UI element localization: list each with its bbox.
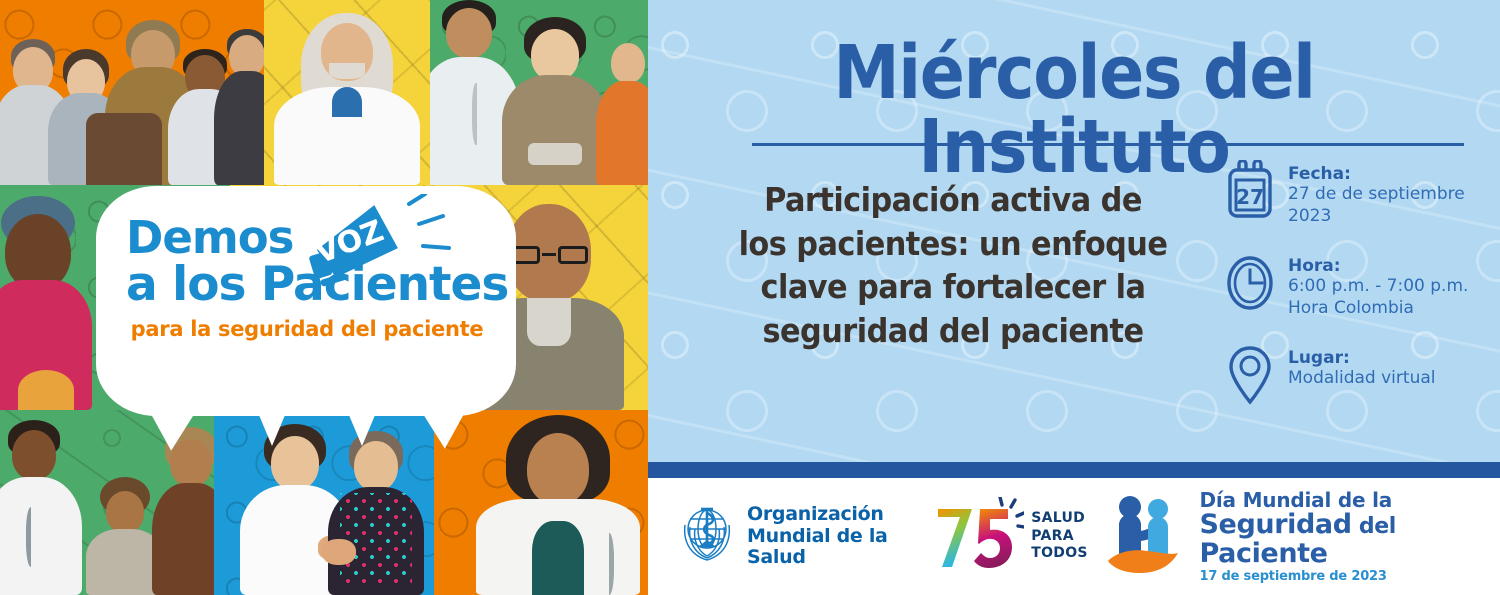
doctor-with-patient-photo <box>430 0 648 185</box>
who-emblem-icon <box>676 503 738 570</box>
event-info-panel: Miércoles del Instituto Participación ac… <box>648 0 1500 462</box>
group-discussion-photo <box>0 0 264 185</box>
slogan-line-1: Demos <box>126 216 488 259</box>
detail-date-value-2: 2023 <box>1288 206 1496 227</box>
who-logo: Organización Mundial de la Salud <box>676 503 910 570</box>
psd-line-2-light: del <box>1352 514 1396 539</box>
footer-divider <box>648 462 1500 478</box>
detail-location-label: Lugar: <box>1288 348 1496 368</box>
poster-banner: VOZ Demos a los Pacientes para la seguri… <box>0 0 1500 595</box>
psd-line-1: Día Mundial de la <box>1199 489 1466 511</box>
detail-time-label: Hora: <box>1288 256 1496 276</box>
psd-line-2: Seguridad del Paciente <box>1199 511 1466 568</box>
event-subtitle: Participación activa de los pacientes: u… <box>737 178 1169 352</box>
detail-time-value-1: 6:00 p.m. - 7:00 p.m. <box>1288 276 1496 297</box>
slogan-line-2: a los Pacientes <box>126 261 488 309</box>
collage-row-3 <box>0 410 648 595</box>
detail-date-label: Fecha: <box>1288 164 1496 184</box>
calendar-day-number: 27 <box>1236 185 1264 209</box>
hijab-doctor-photo <box>264 0 430 185</box>
detail-time: Hora: 6:00 p.m. - 7:00 p.m. Hora Colombi… <box>1226 252 1496 330</box>
detail-location: Lugar: Modalidad virtual <box>1226 344 1496 422</box>
slogan-line-3: para la seguridad del paciente <box>126 317 488 341</box>
event-details-list: 27 Fecha: 27 de de septiembre 2023 <box>1226 160 1496 436</box>
75-anniversary-icon <box>932 497 1024 576</box>
title-divider <box>752 143 1464 146</box>
who-line-2: Mundial de la Salud <box>747 526 910 569</box>
collage-row-1 <box>0 0 648 185</box>
psd-line-3: 17 de septiembre de 2023 <box>1199 569 1466 584</box>
clock-icon <box>1226 252 1274 314</box>
slogan-speech-bubble: VOZ Demos a los Pacientes para la seguri… <box>96 186 516 416</box>
psd-line-2-bold2: Paciente <box>1199 538 1327 569</box>
nurse-with-elderly-photo <box>214 410 434 595</box>
footer-logos: Organización Mundial de la Salud <box>648 478 1500 595</box>
calendar-icon: 27 <box>1226 160 1274 222</box>
psd-line-2-bold: Seguridad <box>1199 509 1351 540</box>
anniversary-line-2: PARA TODOS <box>1031 528 1104 563</box>
anniversary-line-1: SALUD <box>1031 510 1104 528</box>
location-pin-icon <box>1226 344 1274 406</box>
two-people-helping-hand-icon <box>1104 491 1190 582</box>
patient-safety-day-logo: Día Mundial de la Seguridad del Paciente… <box>1104 489 1466 584</box>
detail-location-value-1: Modalidad virtual <box>1288 368 1496 389</box>
detail-time-value-2: Hora Colombia <box>1288 298 1496 319</box>
detail-date: 27 Fecha: 27 de de septiembre 2023 <box>1226 160 1496 238</box>
detail-date-value-1: 27 de de septiembre <box>1288 184 1496 205</box>
who-line-1: Organización <box>747 504 910 526</box>
75-anniversary-logo: SALUD PARA TODOS <box>932 497 1104 576</box>
